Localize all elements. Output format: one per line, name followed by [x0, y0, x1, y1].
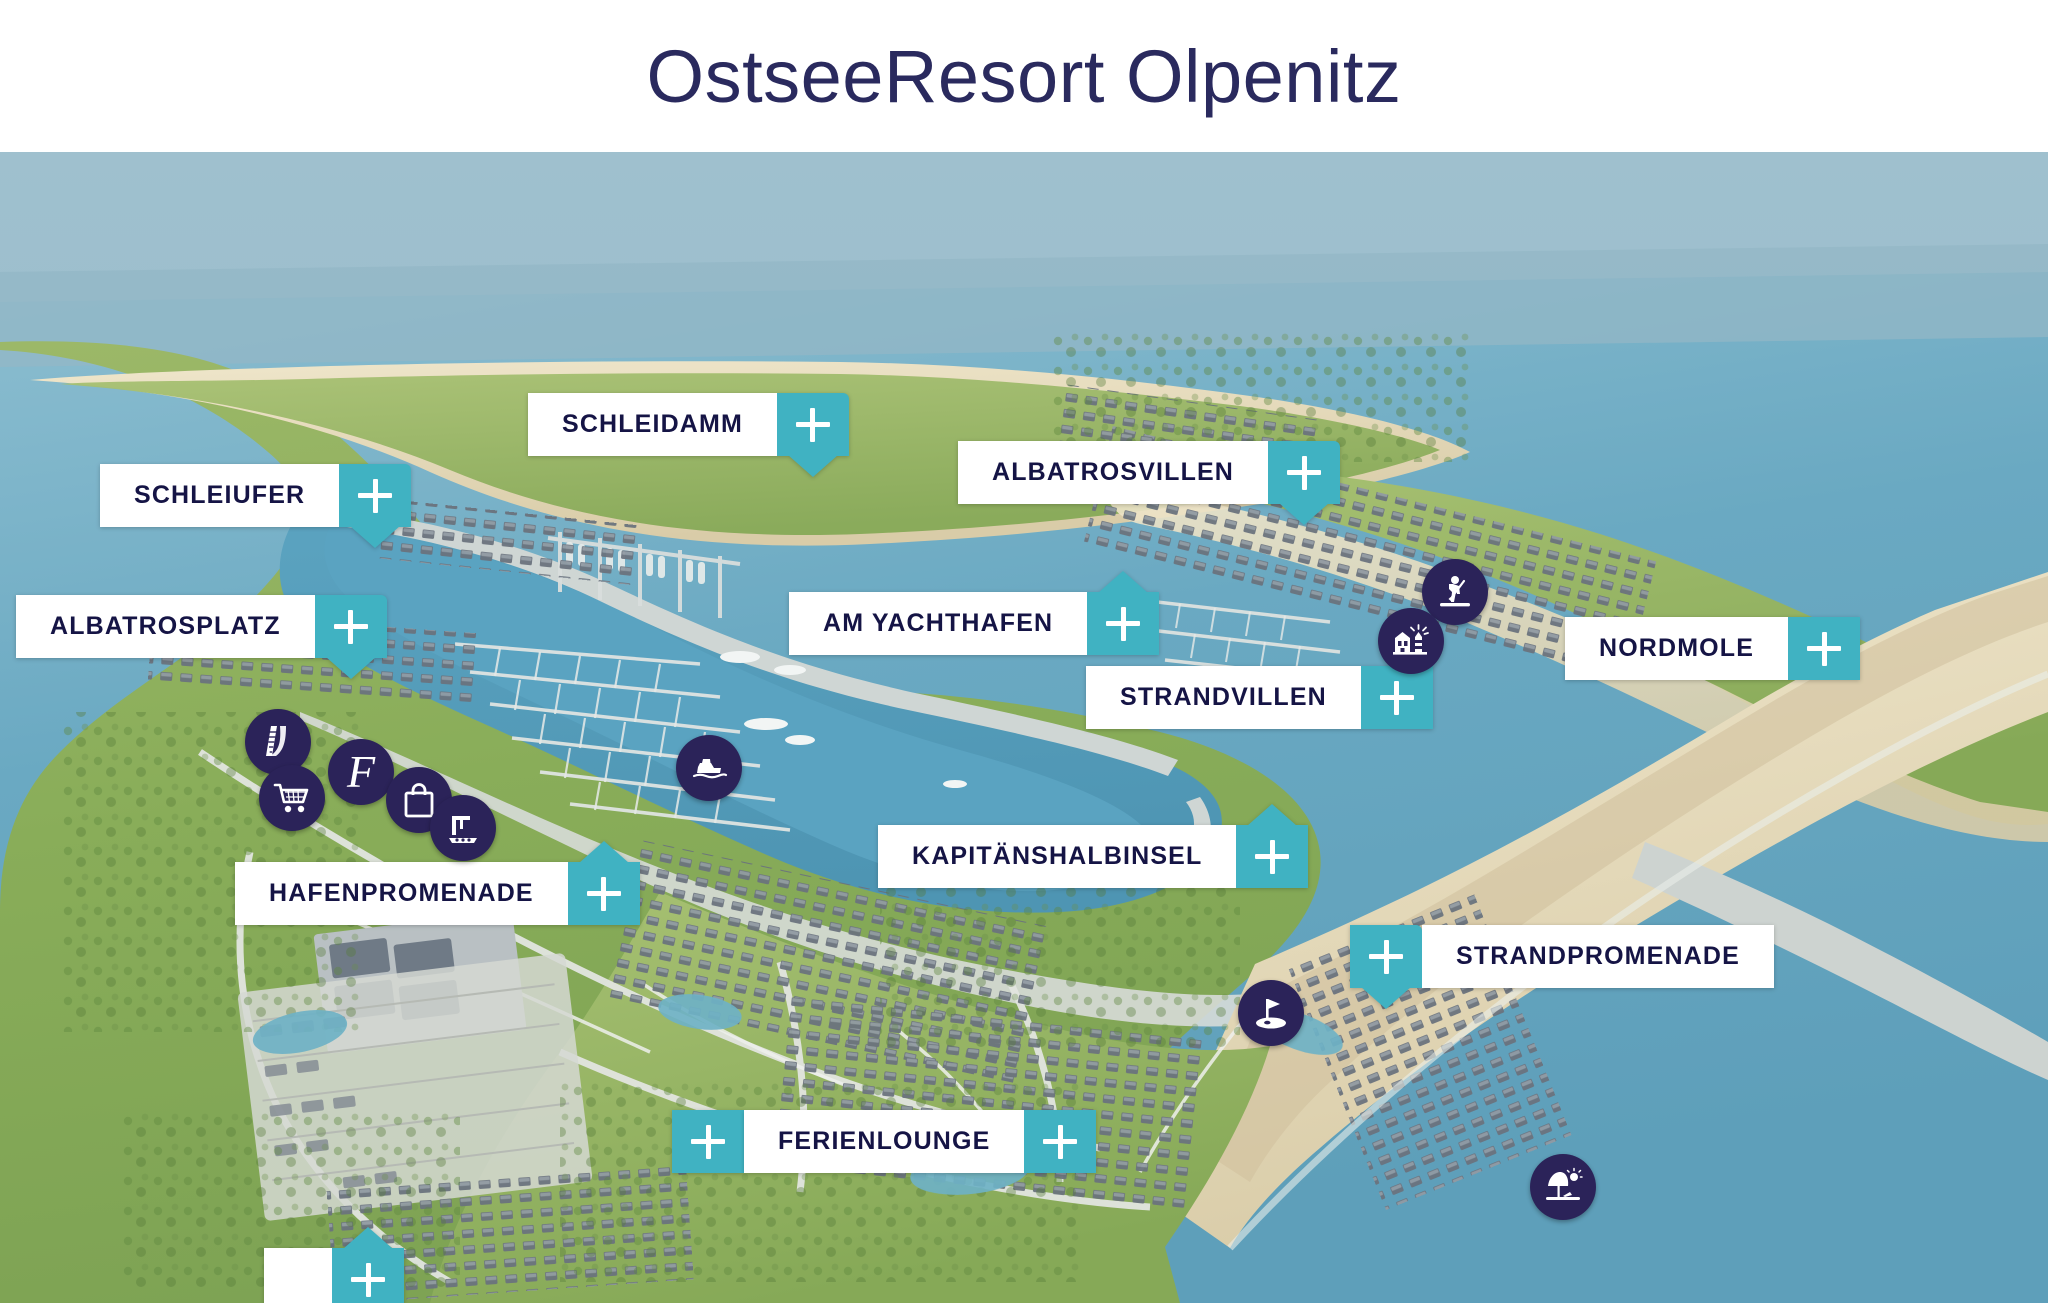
plus-icon[interactable]: [672, 1110, 744, 1173]
pointer-tail: [788, 455, 838, 477]
brand-monogram: F: [347, 749, 375, 795]
plus-icon[interactable]: [777, 393, 849, 456]
plus-icon[interactable]: [1788, 617, 1860, 680]
hotspot-label: NORDMOLE: [1565, 617, 1788, 680]
hotspot-nordmole[interactable]: NORDMOLE: [1565, 617, 1860, 680]
boat-crane-icon[interactable]: [430, 795, 496, 861]
pointer-tail: [579, 841, 629, 863]
pointer-tail: [343, 1227, 393, 1249]
hotspot-label: AM YACHTHAFEN: [789, 592, 1087, 655]
shopping-cart-icon[interactable]: [259, 765, 325, 831]
hotspot-albatrosplatz[interactable]: ALBATROSPLATZ: [16, 595, 387, 658]
plus-icon[interactable]: [1087, 592, 1159, 655]
plus-icon[interactable]: [315, 595, 387, 658]
hotspot-label: SCHLEIDAMM: [528, 393, 777, 456]
hotspot-label: KAPITÄNSHALBINSEL: [878, 825, 1236, 888]
motorboat-icon[interactable]: [676, 735, 742, 801]
hotspot-schleidamm[interactable]: SCHLEIDAMM: [528, 393, 849, 456]
plus-icon[interactable]: [1236, 825, 1308, 888]
plus-icon[interactable]: [1361, 666, 1433, 729]
hotspot-ferienpark-left-marker[interactable]: [672, 1110, 744, 1173]
village-lighthouse-icon[interactable]: [1378, 608, 1444, 674]
beach-umbrella-icon[interactable]: [1530, 1154, 1596, 1220]
pointer-tail: [326, 657, 376, 679]
hotspot-label: [264, 1248, 332, 1303]
hotspot-am-yachthafen[interactable]: AM YACHTHAFEN: [789, 592, 1159, 655]
hotspot-label: STRANDPROMENADE: [1422, 925, 1774, 988]
plus-icon[interactable]: [1024, 1110, 1096, 1173]
resort-map[interactable]: SCHLEIDAMM SCHLEIUFER ALBATROSVILLEN ALB…: [0, 152, 2048, 1303]
pointer-tail: [1247, 804, 1297, 826]
hotspot-label: ALBATROSVILLEN: [958, 441, 1268, 504]
hotspot-label: SCHLEIUFER: [100, 464, 339, 527]
water-slide-icon[interactable]: [245, 709, 311, 775]
plus-icon[interactable]: [332, 1248, 404, 1303]
hotspot-strandvillen[interactable]: STRANDVILLEN: [1086, 666, 1433, 729]
plus-icon[interactable]: [339, 464, 411, 527]
hotspot-label: HAFENPROMENADE: [235, 862, 568, 925]
plus-icon[interactable]: [1350, 925, 1422, 988]
hotspot-strandpromenade[interactable]: STRANDPROMENADE: [1350, 925, 1774, 988]
hotspot-label: ALBATROSPLATZ: [16, 595, 315, 658]
hotspot-schleiufer[interactable]: SCHLEIUFER: [100, 464, 411, 527]
pointer-tail: [1098, 571, 1148, 593]
pointer-tail: [350, 526, 400, 548]
golf-flag-icon[interactable]: [1238, 980, 1304, 1046]
plus-icon[interactable]: [568, 862, 640, 925]
hotspot-ferienlounge[interactable]: [264, 1248, 404, 1303]
pointer-tail: [1361, 987, 1411, 1009]
hotspot-hafenpromenade[interactable]: HAFENPROMENADE: [235, 862, 640, 925]
plus-icon[interactable]: [1268, 441, 1340, 504]
pointer-tail: [1279, 503, 1329, 525]
hotspot-albatrosvillen[interactable]: ALBATROSVILLEN: [958, 441, 1340, 504]
hotspot-label: STRANDVILLEN: [1086, 666, 1361, 729]
page-title: OstseeResort Olpenitz: [0, 0, 2048, 152]
hotspot-ferienpark[interactable]: FERIENLOUNGE: [744, 1110, 1096, 1173]
f-monogram-icon[interactable]: F: [328, 739, 394, 805]
hotspot-label: FERIENLOUNGE: [744, 1110, 1024, 1173]
hotspot-kapitaenshalbinsel[interactable]: KAPITÄNSHALBINSEL: [878, 825, 1308, 888]
